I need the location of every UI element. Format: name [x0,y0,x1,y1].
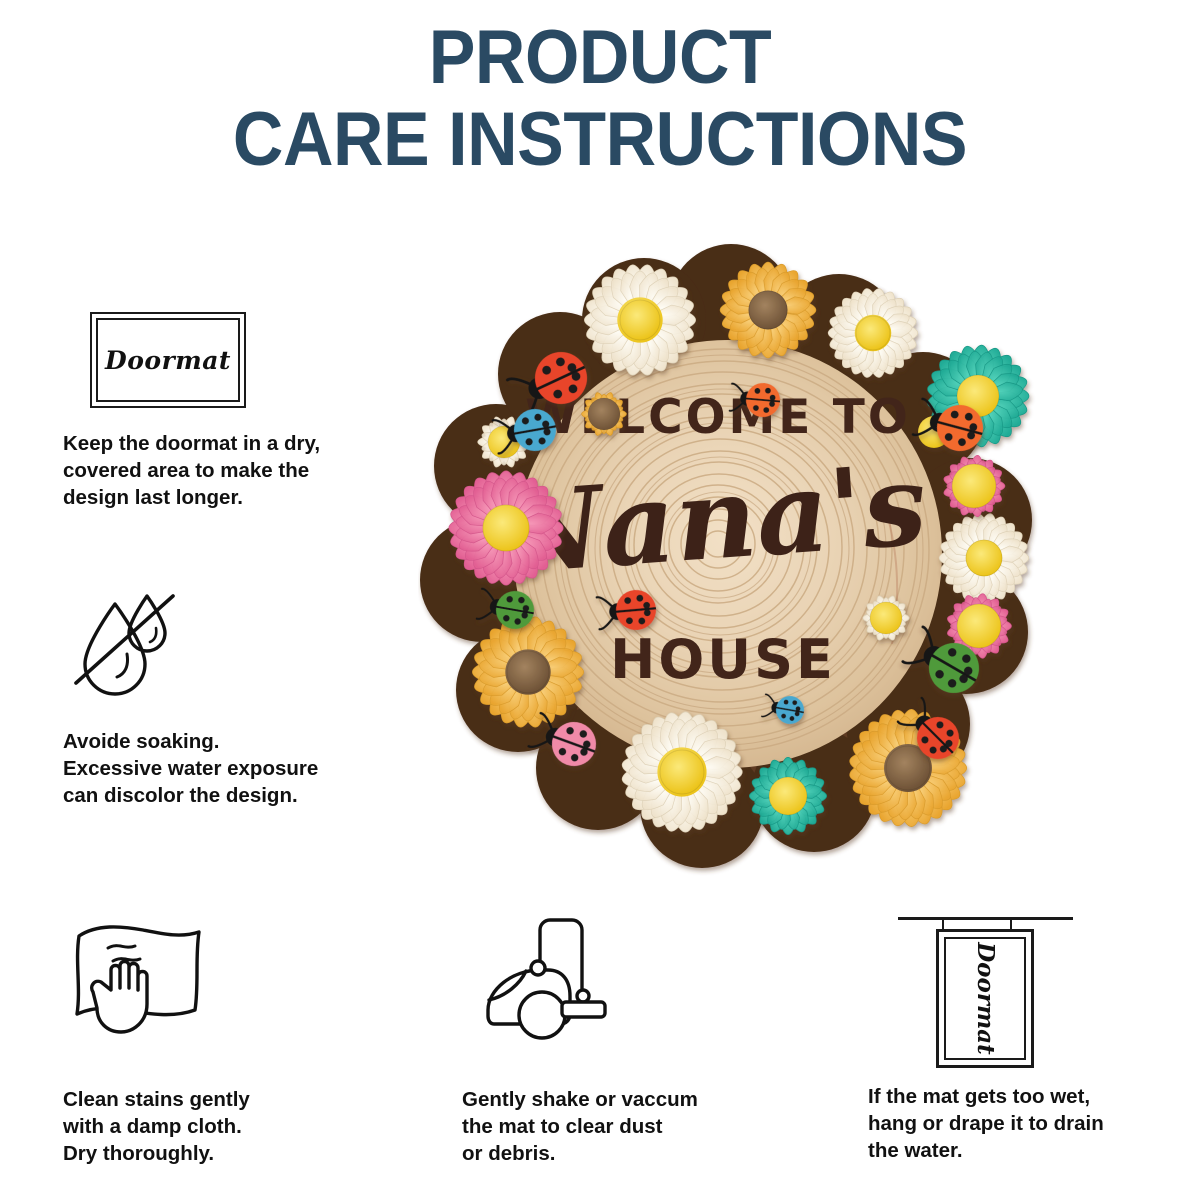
plaque-label: Doormat [92,314,244,406]
water-drops-slash-svg [63,588,263,708]
flower-teal-daisy-bottom [749,757,826,834]
page-title: PRODUCT CARE INSTRUCTIONS [0,22,1200,176]
product-image-floral-wreath-sign: WELCOME TO Nana's HOUSE [418,228,1044,883]
care-item-hang-dry: Doormat If the mat gets too wet, hang or… [868,905,1200,1164]
sign-line-house: HOUSE [610,628,836,691]
hand-wiping-cloth-icon [63,918,403,1068]
title-line-2: CARE INSTRUCTIONS [48,104,1152,176]
doormat-plaque-icon: Doormat [63,312,393,408]
sign-line-welcome: WELCOME TO [525,390,911,445]
care-text-hang-dry: If the mat gets too wet, hang or drape i… [868,1083,1200,1164]
care-text-keep-dry: Keep the doormat in a dry, covered area … [63,430,393,511]
hanging-plaque-label: Doormat [972,942,999,1055]
cloth-hand-svg [63,918,263,1068]
care-item-avoid-soaking: Avoide soaking. Excessive water exposure… [63,588,393,809]
care-instructions-page: PRODUCT CARE INSTRUCTIONS Doormat Keep t… [0,0,1200,1200]
title-line-1: PRODUCT [48,22,1152,94]
care-item-keep-dry: Doormat Keep the doormat in a dry, cover… [63,312,393,511]
clothesline-rod [898,917,1073,920]
wreath-svg: WELCOME TO Nana's HOUSE [418,228,1044,883]
vacuum-cleaner-icon [462,918,802,1068]
flower-pink-daisy-left [449,471,563,585]
hanging-doormat-icon: Doormat [898,905,1073,1065]
plaque-frame: Doormat [90,312,246,408]
hanging-plaque-frame: Doormat [936,929,1034,1068]
no-soaking-water-drop-icon [63,588,393,708]
care-text-clean-cloth: Clean stains gently with a damp cloth. D… [63,1086,403,1167]
vacuum-svg [462,918,692,1068]
care-text-vacuum: Gently shake or vaccum the mat to clear … [462,1086,802,1167]
care-item-vacuum: Gently shake or vaccum the mat to clear … [462,918,802,1167]
care-text-avoid-soaking: Avoide soaking. Excessive water exposure… [63,728,393,809]
hanging-plaque-label-wrap: Doormat [939,932,1031,1065]
care-item-clean-cloth: Clean stains gently with a damp cloth. D… [63,918,403,1167]
